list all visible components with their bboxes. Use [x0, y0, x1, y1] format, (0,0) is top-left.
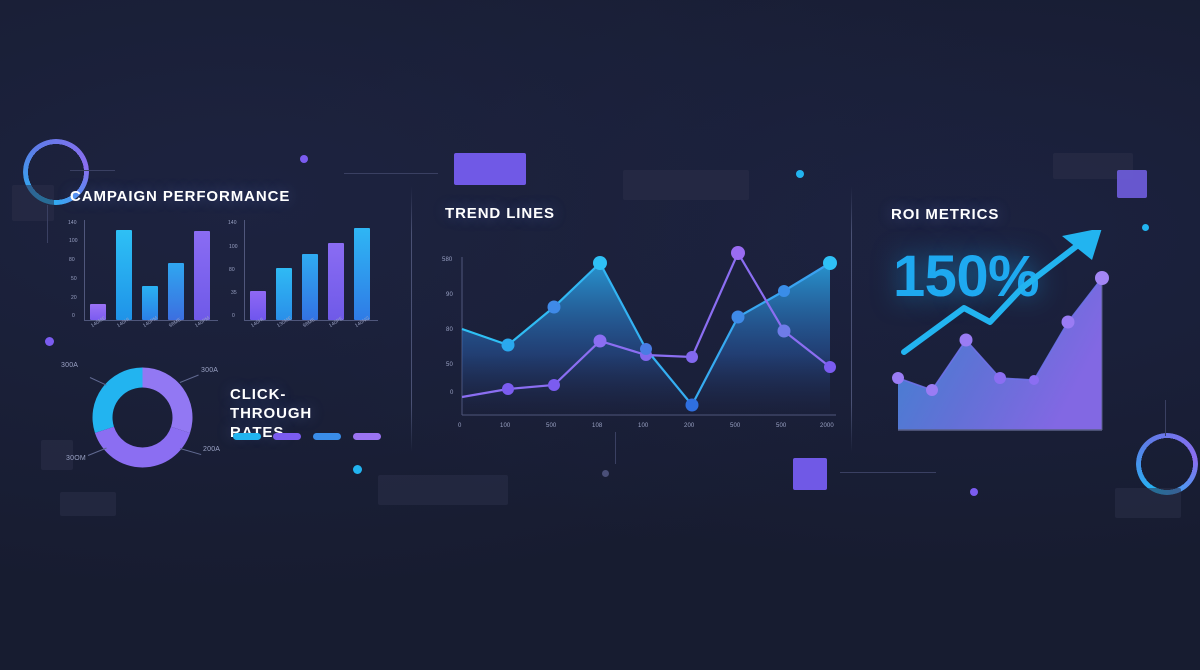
trend-lines-chart: 580 90 80 50 0 [440, 245, 840, 435]
roi-marker[interactable] [960, 334, 973, 347]
trend-marker-purple[interactable] [686, 351, 698, 363]
dashboard-canvas: CAMPAIGN PERFORMANCE 140 100 80 50 20 0 … [0, 0, 1200, 670]
donut-slice-violet [95, 427, 190, 468]
roi-svg [890, 230, 1130, 440]
bar [194, 231, 210, 320]
legend-pill-cyan[interactable] [233, 433, 261, 440]
trend-marker-purple[interactable] [731, 246, 745, 260]
xtick-label: 100 [638, 423, 648, 429]
trend-marker-purple[interactable] [548, 379, 560, 391]
roi-metrics-title: ROI METRICS [891, 206, 999, 225]
deco-vline-right [1165, 400, 1166, 436]
ctr-donut-chart [85, 360, 200, 475]
ytick-label: 0 [232, 313, 235, 319]
dot-cyan-right [796, 170, 804, 178]
roi-marker[interactable] [926, 384, 938, 396]
ytick-label: 580 [442, 257, 452, 263]
xtick-label: 500 [776, 423, 786, 429]
trend-marker-cyan[interactable] [640, 343, 652, 355]
ytick-label: 80 [446, 327, 453, 333]
deco-square-violet-bottom [793, 458, 827, 490]
roi-marker[interactable] [892, 372, 904, 384]
bar [250, 291, 266, 320]
dot-violet-mid [602, 470, 609, 477]
trend-marker-cyan[interactable] [548, 301, 561, 314]
ytick-label: 80 [69, 257, 75, 263]
xtick-label: 108 [592, 423, 602, 429]
ctr-legend [233, 433, 393, 440]
ytick-label: 140 [228, 220, 237, 226]
legend-pill-violet[interactable] [353, 433, 381, 440]
divider-right [851, 186, 852, 452]
deco-rect-violet-topright [1117, 170, 1147, 198]
ytick-label: 140 [68, 220, 77, 226]
donut-label: 300A [61, 362, 78, 369]
xtick-label: 200 [684, 423, 694, 429]
trend-marker-cyan[interactable] [593, 256, 607, 270]
ytick-label: 90 [446, 292, 453, 298]
donut-svg [85, 360, 200, 475]
ytick-label: 0 [72, 313, 75, 319]
trend-marker-cyan[interactable] [686, 399, 699, 412]
trend-svg [440, 245, 840, 435]
xtick-label: 500 [546, 423, 556, 429]
roi-marker[interactable] [994, 372, 1006, 384]
donut-label: 200A [203, 446, 220, 453]
trend-lines-title: TREND LINES [445, 205, 555, 224]
xtick-label: 2000 [820, 423, 834, 429]
xtick-label: 100 [500, 423, 510, 429]
deco-rect-bottom-left [60, 492, 116, 516]
ytick-label: 80 [229, 267, 235, 273]
ytick-label: 50 [446, 362, 453, 368]
legend-pill-purple[interactable] [273, 433, 301, 440]
xtick-label: 500 [730, 423, 740, 429]
trend-marker-cyan[interactable] [732, 311, 745, 324]
roi-area-fill [898, 278, 1102, 430]
dot-violet-low [970, 488, 978, 496]
campaign-bar-chart-right: 140 100 80 35 0 140HI 130ME 98ME 140PE 1… [228, 220, 378, 338]
roi-marker[interactable] [1095, 271, 1109, 285]
deco-rect-bottom-mid [378, 475, 508, 505]
y-axis-line [84, 220, 85, 320]
roi-marker[interactable] [1029, 375, 1039, 385]
dot-violet-left [45, 337, 54, 346]
donut-label: 30OM [66, 455, 86, 462]
trend-marker-cyan[interactable] [778, 285, 790, 297]
ring-bottom-right-icon [1136, 433, 1198, 495]
deco-line-top-center [344, 173, 438, 174]
campaign-bar-chart-left: 140 100 80 50 20 0 140ME 140HI 140PM 98M… [68, 220, 218, 338]
trend-area-cyan [462, 263, 830, 415]
roi-marker[interactable] [1062, 316, 1075, 329]
deco-rect-grey-top [623, 170, 749, 200]
trend-marker-cyan[interactable] [823, 256, 837, 270]
deco-line-top-left [70, 170, 115, 171]
bar [168, 263, 184, 320]
bar [116, 230, 132, 320]
dot-cyan-small [1142, 224, 1149, 231]
trend-marker-purple[interactable] [594, 335, 607, 348]
trend-marker-cyan[interactable] [502, 339, 515, 352]
bar [302, 254, 318, 320]
dot-violet-top [300, 155, 308, 163]
roi-area-chart [890, 230, 1130, 440]
campaign-performance-title: CAMPAIGN PERFORMANCE [70, 188, 290, 207]
bar [328, 243, 344, 320]
deco-vline-mid [615, 432, 616, 464]
donut-slice-cyan [93, 368, 143, 433]
deco-line-bottom-right [840, 472, 936, 473]
ytick-label: 20 [71, 295, 77, 301]
legend-pill-blue[interactable] [313, 433, 341, 440]
bar [354, 228, 370, 320]
deco-rect-purple-top [454, 153, 526, 185]
ytick-label: 100 [69, 238, 78, 244]
ytick-label: 100 [229, 244, 238, 250]
trend-marker-purple[interactable] [502, 383, 514, 395]
deco-vline-left [47, 205, 48, 243]
ytick-label: 50 [71, 276, 77, 282]
donut-label: 300A [201, 367, 218, 374]
bar [276, 268, 292, 320]
ytick-label: 0 [450, 390, 453, 396]
divider-left [411, 186, 412, 452]
donut-slice-purple [143, 368, 193, 433]
ytick-label: 35 [231, 290, 237, 296]
xtick-label: 0 [458, 423, 461, 429]
trend-marker-purple[interactable] [778, 325, 791, 338]
y-axis-line [244, 220, 245, 320]
dot-cyan-mid [353, 465, 362, 474]
trend-marker-purple[interactable] [824, 361, 836, 373]
deco-rect-bottom-right [1115, 488, 1181, 518]
